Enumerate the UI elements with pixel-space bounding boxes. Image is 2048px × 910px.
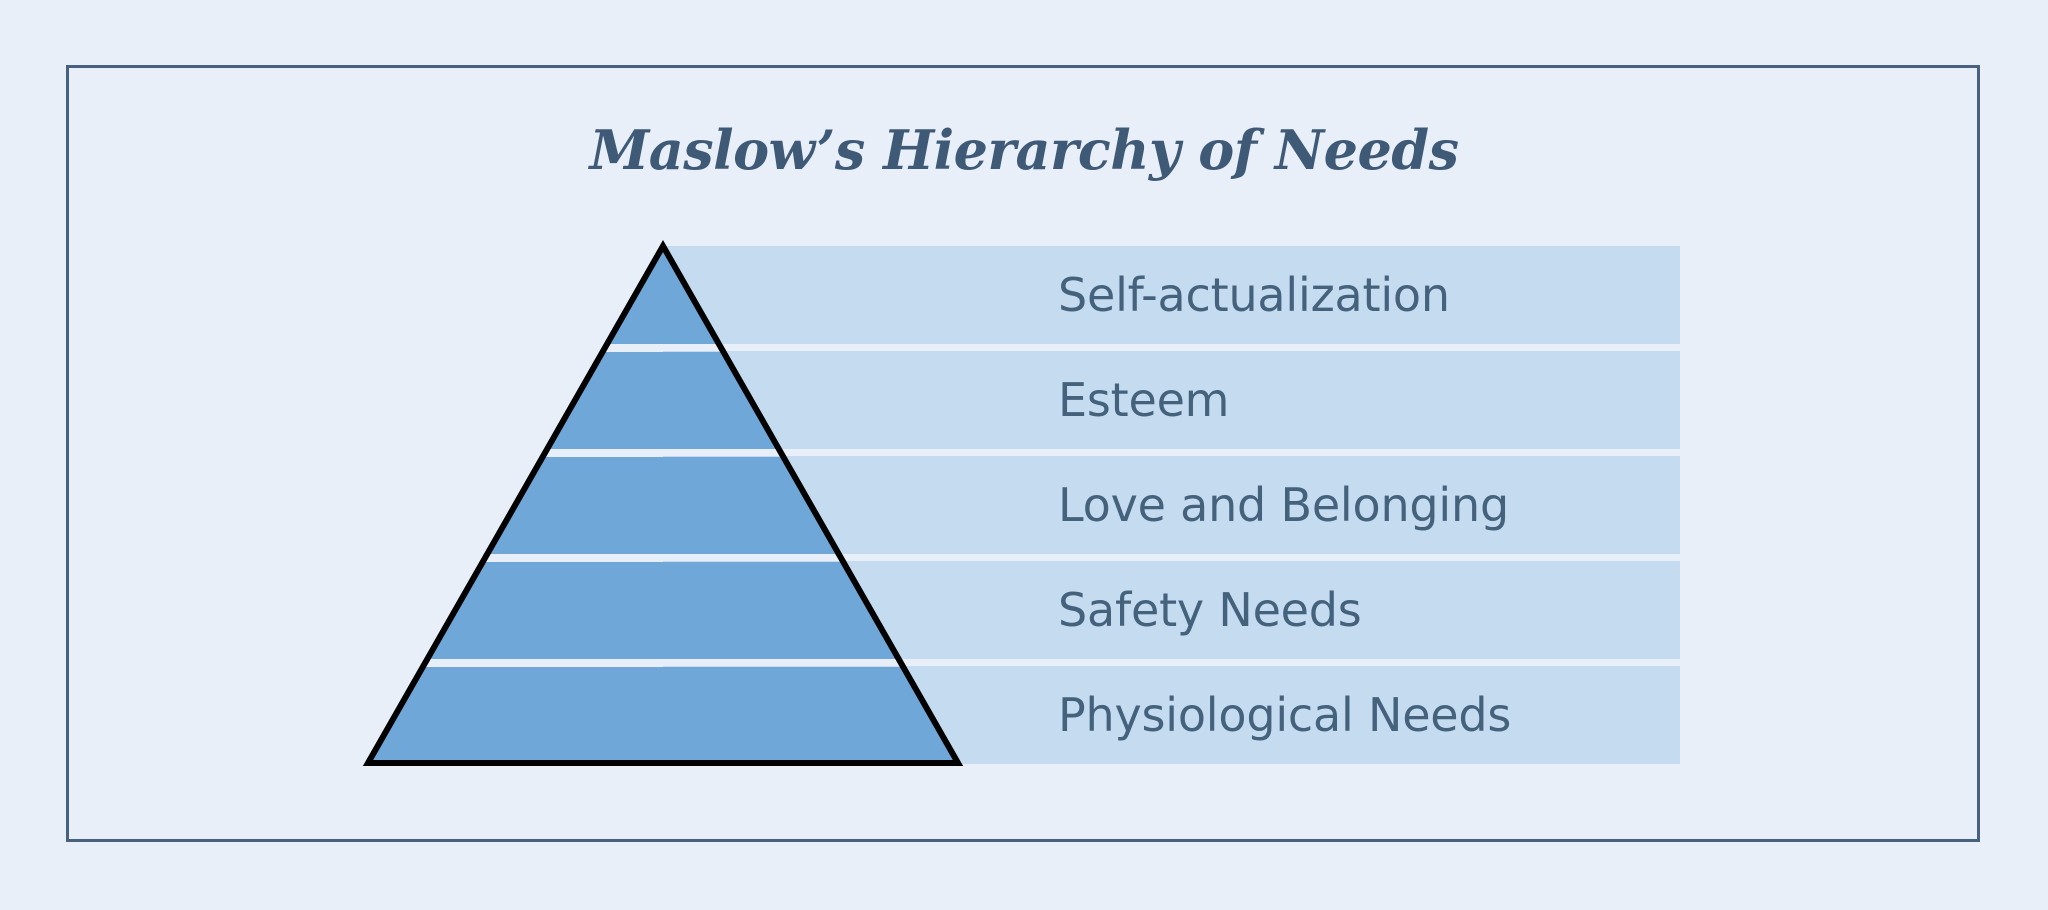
tier-label-self-actualization: Self-actualization <box>1058 246 1658 344</box>
diagram-canvas: Maslow’s Hierarchy of Needs <box>0 0 2048 910</box>
tier-label-physiological-needs: Physiological Needs <box>1058 666 1658 764</box>
tier-label-esteem: Esteem <box>1058 351 1658 449</box>
tier-label-love-and-belonging: Love and Belonging <box>1058 456 1658 554</box>
tier-label-safety-needs: Safety Needs <box>1058 561 1658 659</box>
tier-label-group: Self-actualization Esteem Love and Belon… <box>663 246 1680 764</box>
maslow-pyramid-diagram: Self-actualization Esteem Love and Belon… <box>0 0 2048 910</box>
